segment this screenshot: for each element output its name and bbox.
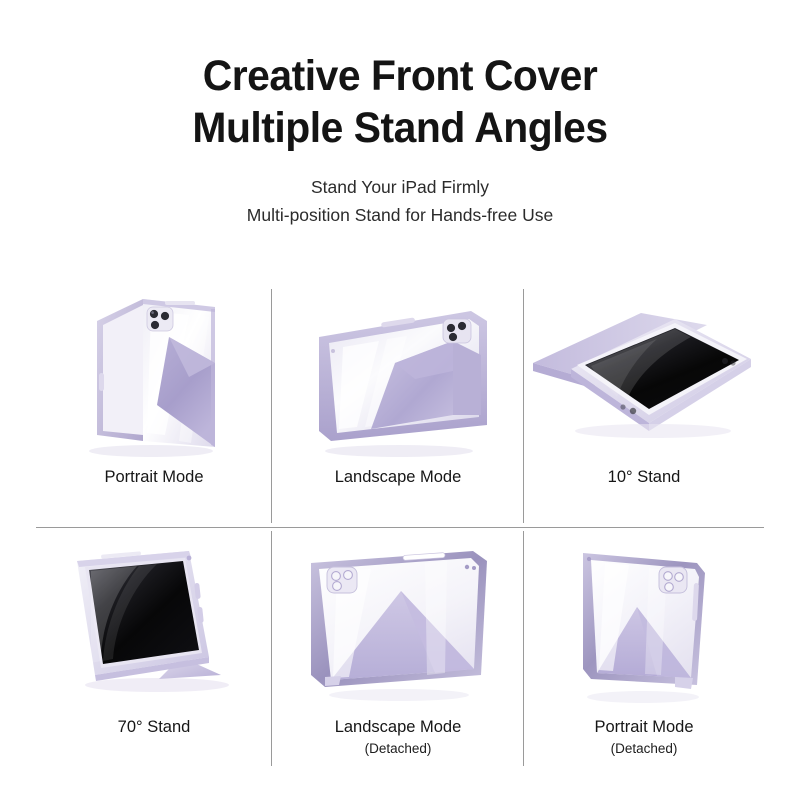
tablet-illustration-landscape-stand bbox=[272, 285, 524, 467]
caption-portrait-mode: Portrait Mode bbox=[104, 467, 203, 488]
page-title: Creative Front Cover Multiple Stand Angl… bbox=[20, 50, 780, 155]
stage-portrait-mode bbox=[36, 285, 272, 467]
tablet-illustration-portrait-detached bbox=[524, 527, 764, 717]
subtitle-line-2: Multi-position Stand for Hands-free Use bbox=[0, 201, 800, 229]
subtitle-line-1: Stand Your iPad Firmly bbox=[0, 173, 800, 201]
stage-seventy-degree-stand bbox=[36, 527, 272, 717]
title-line-1: Creative Front Cover bbox=[203, 52, 598, 100]
caption-landscape-detached: Landscape Mode (Detached) bbox=[335, 717, 462, 758]
title-line-2: Multiple Stand Angles bbox=[20, 102, 780, 154]
stage-landscape-mode bbox=[272, 285, 524, 467]
stage-ten-degree-stand bbox=[524, 285, 764, 467]
caption-portrait-detached: Portrait Mode (Detached) bbox=[594, 717, 693, 758]
grid-cell-seventy-degree-stand: 70° Stand bbox=[36, 527, 272, 770]
caption-label: Landscape Mode bbox=[335, 718, 462, 736]
stand-mode-grid: Portrait Mode bbox=[36, 285, 764, 770]
tablet-illustration-seventy-degree-stand bbox=[36, 527, 272, 717]
grid-cell-landscape-detached: Landscape Mode (Detached) bbox=[272, 527, 524, 770]
camera-cutout bbox=[659, 567, 687, 593]
grid-cell-landscape-mode: Landscape Mode bbox=[272, 285, 524, 527]
grid-cell-portrait-detached: Portrait Mode (Detached) bbox=[524, 527, 764, 770]
grid-cell-ten-degree-stand: 10° Stand bbox=[524, 285, 764, 527]
caption-label: Portrait Mode bbox=[104, 468, 203, 486]
caption-sublabel: (Detached) bbox=[594, 741, 693, 758]
camera-cutout bbox=[327, 567, 357, 593]
caption-sublabel: (Detached) bbox=[335, 741, 462, 758]
grid-cell-portrait-mode: Portrait Mode bbox=[36, 285, 272, 527]
stage-landscape-detached bbox=[272, 527, 524, 717]
header: Creative Front Cover Multiple Stand Angl… bbox=[0, 0, 800, 230]
caption-landscape-mode: Landscape Mode bbox=[335, 467, 462, 488]
camera-module bbox=[147, 307, 173, 331]
caption-label: Landscape Mode bbox=[335, 468, 462, 486]
caption-ten-degree-stand: 10° Stand bbox=[608, 467, 681, 488]
tablet-illustration-landscape-detached bbox=[272, 527, 524, 717]
page-subtitle: Stand Your iPad Firmly Multi-position St… bbox=[0, 173, 800, 230]
product-infographic: Creative Front Cover Multiple Stand Angl… bbox=[0, 0, 800, 800]
caption-label: 70° Stand bbox=[118, 718, 191, 736]
caption-label: 10° Stand bbox=[608, 468, 681, 486]
stage-portrait-detached bbox=[524, 527, 764, 717]
tablet-illustration-ten-degree-stand bbox=[524, 285, 764, 467]
caption-label: Portrait Mode bbox=[594, 718, 693, 736]
caption-seventy-degree-stand: 70° Stand bbox=[118, 717, 191, 738]
camera-module bbox=[443, 319, 471, 343]
tablet-illustration-portrait-stand bbox=[36, 285, 272, 467]
